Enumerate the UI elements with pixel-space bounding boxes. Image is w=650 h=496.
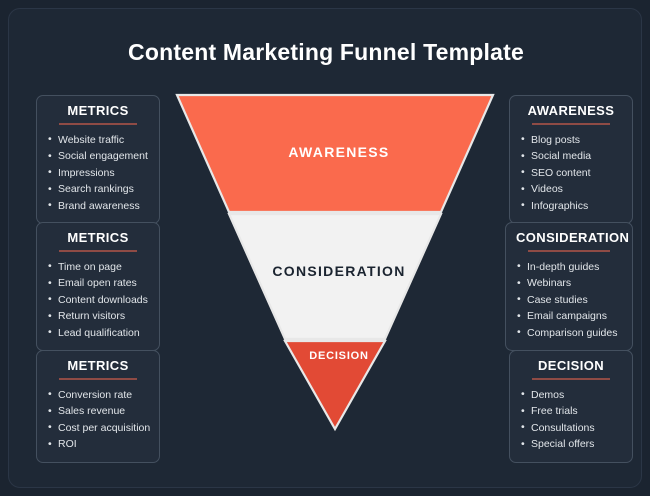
box-item-list: Time on page Email open rates Content do… <box>47 259 149 342</box>
list-item: Return visitors <box>47 308 149 325</box>
box-heading: DECISION <box>520 358 622 373</box>
box-divider <box>59 250 137 252</box>
list-item: Email campaigns <box>516 308 622 325</box>
list-item: Webinars <box>516 275 622 292</box>
list-item: Time on page <box>47 259 149 276</box>
content-box-decision[interactable]: DECISION Demos Free trials Consultations… <box>509 350 633 463</box>
funnel-svg <box>169 87 509 437</box>
list-item: Brand awareness <box>47 198 149 215</box>
list-item: Special offers <box>520 436 622 453</box>
funnel-segment-decision[interactable] <box>285 341 385 429</box>
funnel-segment-awareness[interactable] <box>177 95 493 212</box>
list-item: Social media <box>520 148 622 165</box>
box-divider <box>528 250 610 252</box>
box-heading: METRICS <box>47 358 149 373</box>
list-item: Free trials <box>520 403 622 420</box>
funnel-segment-consideration[interactable] <box>229 214 441 339</box>
box-heading: AWARENESS <box>520 103 622 118</box>
list-item: Lead qualification <box>47 325 149 342</box>
list-item: Infographics <box>520 198 622 215</box>
diagram-canvas: Content Marketing Funnel Template METRIC… <box>0 0 650 496</box>
box-heading: METRICS <box>47 103 149 118</box>
box-item-list: In-depth guides Webinars Case studies Em… <box>516 259 622 342</box>
list-item: Social engagement <box>47 148 149 165</box>
box-divider <box>59 378 137 380</box>
list-item: Website traffic <box>47 132 149 149</box>
content-box-consideration[interactable]: CONSIDERATION In-depth guides Webinars C… <box>505 222 633 351</box>
box-item-list: Website traffic Social engagement Impres… <box>47 132 149 215</box>
list-item: Demos <box>520 387 622 404</box>
box-divider <box>532 123 610 125</box>
box-item-list: Blog posts Social media SEO content Vide… <box>520 132 622 215</box>
list-item: ROI <box>47 436 149 453</box>
page-title: Content Marketing Funnel Template <box>9 39 642 66</box>
box-divider <box>532 378 610 380</box>
list-item: Email open rates <box>47 275 149 292</box>
list-item: Content downloads <box>47 292 149 309</box>
box-item-list: Conversion rate Sales revenue Cost per a… <box>47 387 149 453</box>
metrics-box-awareness[interactable]: METRICS Website traffic Social engagemen… <box>36 95 160 224</box>
content-box-awareness[interactable]: AWARENESS Blog posts Social media SEO co… <box>509 95 633 224</box>
box-heading: METRICS <box>47 230 149 245</box>
list-item: Consultations <box>520 420 622 437</box>
list-item: Blog posts <box>520 132 622 149</box>
list-item: Impressions <box>47 165 149 182</box>
box-heading: CONSIDERATION <box>516 230 622 245</box>
box-item-list: Demos Free trials Consultations Special … <box>520 387 622 453</box>
list-item: Search rankings <box>47 181 149 198</box>
list-item: Videos <box>520 181 622 198</box>
list-item: SEO content <box>520 165 622 182</box>
metrics-box-decision[interactable]: METRICS Conversion rate Sales revenue Co… <box>36 350 160 463</box>
metrics-box-consideration[interactable]: METRICS Time on page Email open rates Co… <box>36 222 160 351</box>
list-item: Case studies <box>516 292 622 309</box>
diagram-panel: Content Marketing Funnel Template METRIC… <box>8 8 642 488</box>
list-item: Sales revenue <box>47 403 149 420</box>
box-divider <box>59 123 137 125</box>
list-item: In-depth guides <box>516 259 622 276</box>
list-item: Comparison guides <box>516 325 622 342</box>
list-item: Cost per acquisition <box>47 420 149 437</box>
list-item: Conversion rate <box>47 387 149 404</box>
funnel-diagram: AWARENESS CONSIDERATION DECISION <box>169 87 509 437</box>
